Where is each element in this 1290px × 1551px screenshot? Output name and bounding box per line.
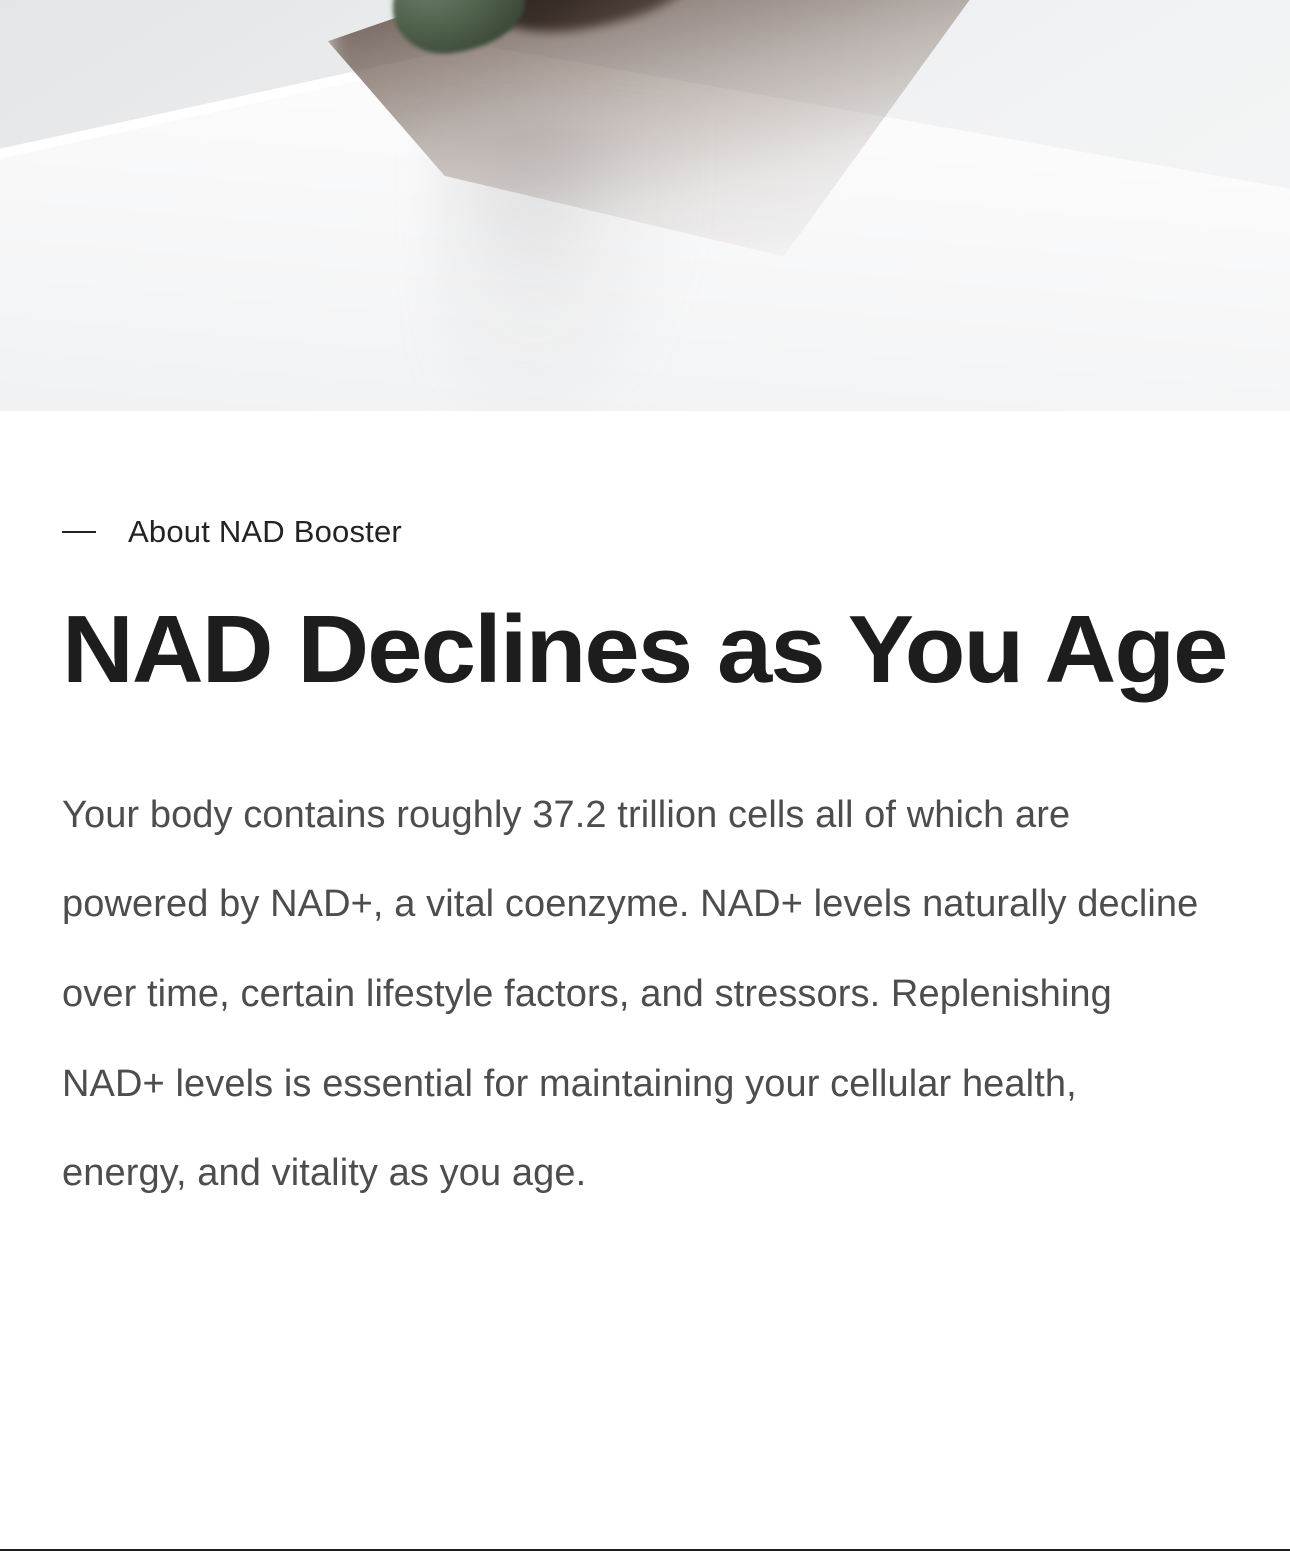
section-content: About NAD Booster NAD Declines as You Ag… <box>0 516 1290 1219</box>
page-title: NAD Declines as You Age <box>62 597 1269 703</box>
section-eyebrow: About NAD Booster <box>62 516 1228 547</box>
hero-soft-blur-smear <box>430 120 690 411</box>
eyebrow-label: About NAD Booster <box>128 516 402 547</box>
section-paragraph: Your body contains roughly 37.2 trillion… <box>62 771 1212 1219</box>
hero-image <box>0 0 1290 411</box>
page-root: About NAD Booster NAD Declines as You Ag… <box>0 0 1290 1551</box>
em-dash-icon <box>62 531 96 533</box>
